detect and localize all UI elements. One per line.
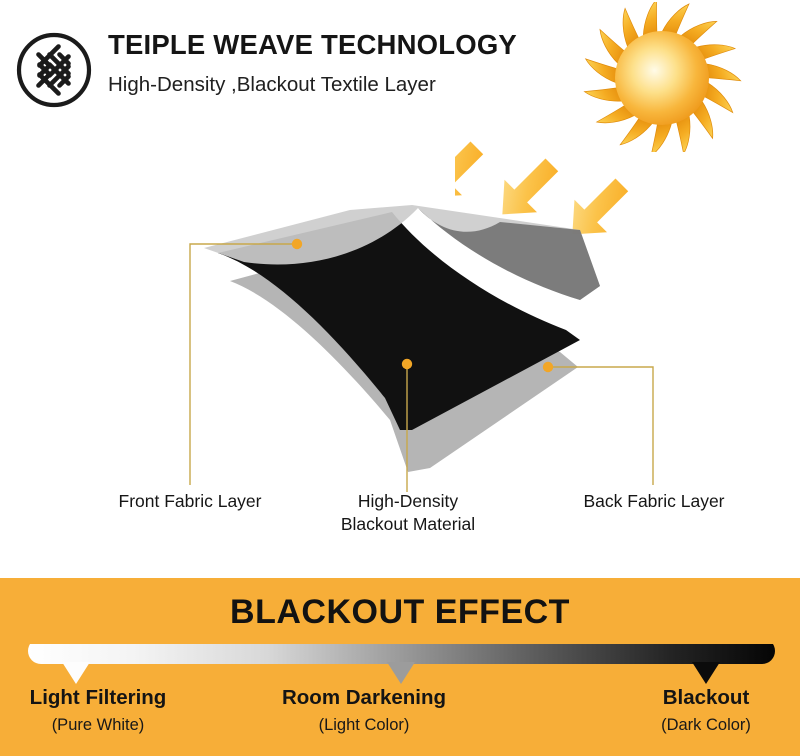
scale-label-room-darkening-sub: (Light Color) bbox=[244, 716, 484, 735]
page-title: TEIPLE WEAVE TECHNOLOGY bbox=[108, 30, 568, 60]
leader-line-front bbox=[190, 244, 297, 485]
scale-label-room-darkening-main: Room Darkening bbox=[244, 686, 484, 710]
header: TEIPLE WEAVE TECHNOLOGY High-Density ,Bl… bbox=[0, 0, 800, 150]
scale-label-room-darkening: Room Darkening (Light Color) bbox=[244, 686, 484, 735]
blackout-effect-panel: BLACKOUT EFFECT Light Filte bbox=[0, 578, 800, 756]
callout-dot-back bbox=[543, 362, 553, 372]
callout-label-back-fabric-layer: Back Fabric Layer bbox=[556, 490, 752, 513]
scale-pointer-blackout bbox=[692, 662, 720, 684]
blackout-effect-title: BLACKOUT EFFECT bbox=[0, 593, 800, 632]
scale-label-blackout-main: Blackout bbox=[586, 686, 800, 710]
page-subtitle: High-Density ,Blackout Textile Layer bbox=[108, 73, 568, 97]
back-fabric-layer bbox=[230, 238, 578, 472]
scale-label-blackout-sub: (Dark Color) bbox=[586, 716, 800, 735]
scale-pointer-room-darkening bbox=[387, 662, 415, 684]
weave-pattern-icon bbox=[14, 30, 94, 110]
scale-label-light-filtering-main: Light Filtering bbox=[0, 686, 218, 710]
sun-rays-arrows-icon bbox=[455, 128, 655, 253]
scale-label-light-filtering: Light Filtering (Pure White) bbox=[0, 686, 218, 735]
header-text-block: TEIPLE WEAVE TECHNOLOGY High-Density ,Bl… bbox=[108, 30, 568, 97]
scale-label-light-filtering-sub: (Pure White) bbox=[0, 716, 218, 735]
scale-track bbox=[28, 644, 775, 664]
callout-dot-front bbox=[292, 239, 302, 249]
callout-label-front-fabric-layer: Front Fabric Layer bbox=[92, 490, 288, 513]
scale-pointer-light-filtering bbox=[62, 662, 90, 684]
callout-label-blackout-material: High-Density Blackout Material bbox=[310, 490, 506, 536]
callout-dot-mid bbox=[402, 359, 412, 369]
leader-line-back bbox=[548, 367, 653, 485]
scale-label-blackout: Blackout (Dark Color) bbox=[586, 686, 800, 735]
blackout-scale-bar bbox=[0, 644, 800, 688]
